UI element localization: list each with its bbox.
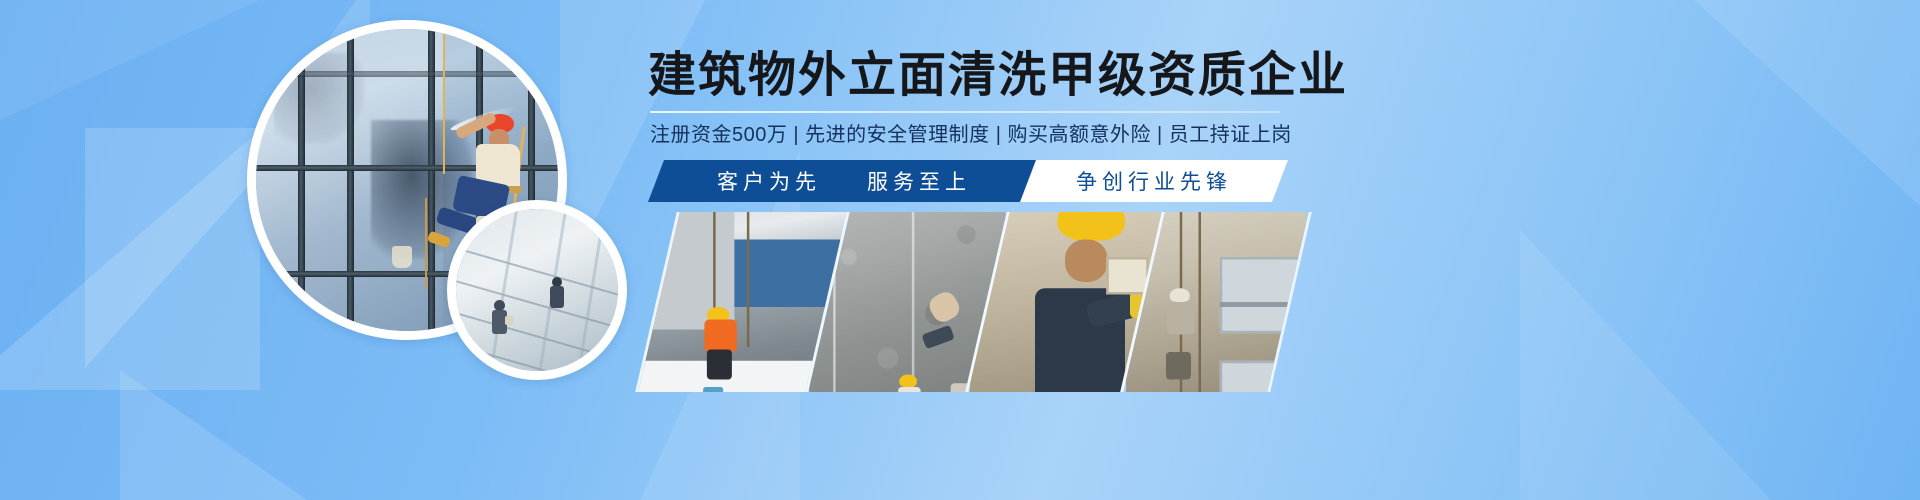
background-triangle-2 [0, 130, 260, 390]
photo-strip [648, 212, 1288, 392]
background-triangle-5 [120, 370, 350, 500]
worker-bucket [703, 387, 723, 392]
worker-helmet-icon [1169, 288, 1189, 302]
worker-body [1167, 302, 1195, 335]
slogan-ribbon-light: 争创行业先锋 [1020, 160, 1288, 202]
worker-legs [1166, 351, 1191, 379]
background-triangle-1 [0, 0, 260, 120]
page-title: 建筑物外立面清洗甲级资质企业 [648, 50, 1348, 103]
slogan-service-supreme: 服务至上 [867, 166, 971, 196]
mini-worker-bucket [505, 316, 514, 325]
building-balcony [1220, 360, 1303, 392]
worker-face [1065, 239, 1108, 282]
promo-banner: 建筑物外立面清洗甲级资质企业 注册资金500万 | 先进的安全管理制度 | 购买… [0, 0, 1920, 500]
circle-photo-facade-cleaning [447, 200, 627, 380]
worker-helmet-icon [900, 374, 918, 387]
facade-background [456, 209, 618, 371]
safety-rope [425, 198, 427, 289]
banner-content: 建筑物外立面清洗甲级资质企业 注册资金500万 | 先进的安全管理制度 | 购买… [648, 0, 1920, 500]
safety-rope [443, 29, 445, 174]
worker-vest [705, 320, 738, 353]
mini-worker-body [550, 286, 564, 308]
slogan-industry-pioneer: 争创行业先锋 [1076, 166, 1232, 196]
title-divider [650, 111, 1280, 113]
banner-subtitle: 注册资金500万 | 先进的安全管理制度 | 购买高额意外险 | 员工持证上岗 [650, 118, 1292, 147]
slogan-customer-first: 客户为先 [717, 166, 821, 196]
hanging-bucket [392, 246, 412, 268]
slogan-ribbon: 客户为先 服务至上 争创行业先锋 [648, 160, 1288, 202]
window-mullion-horizontal [256, 71, 558, 77]
facade-cleaning-scene [456, 209, 618, 371]
balcony-rail [1220, 302, 1303, 307]
worker-helmet-icon [1057, 212, 1125, 241]
safety-rope [1198, 212, 1201, 392]
safety-rope [911, 212, 914, 392]
safety-rope [747, 212, 750, 347]
building-balcony [1220, 257, 1303, 333]
worker-legs [707, 349, 732, 379]
worker-body [898, 387, 921, 392]
slogan-ribbon-dark: 客户为先 服务至上 [648, 160, 1040, 202]
